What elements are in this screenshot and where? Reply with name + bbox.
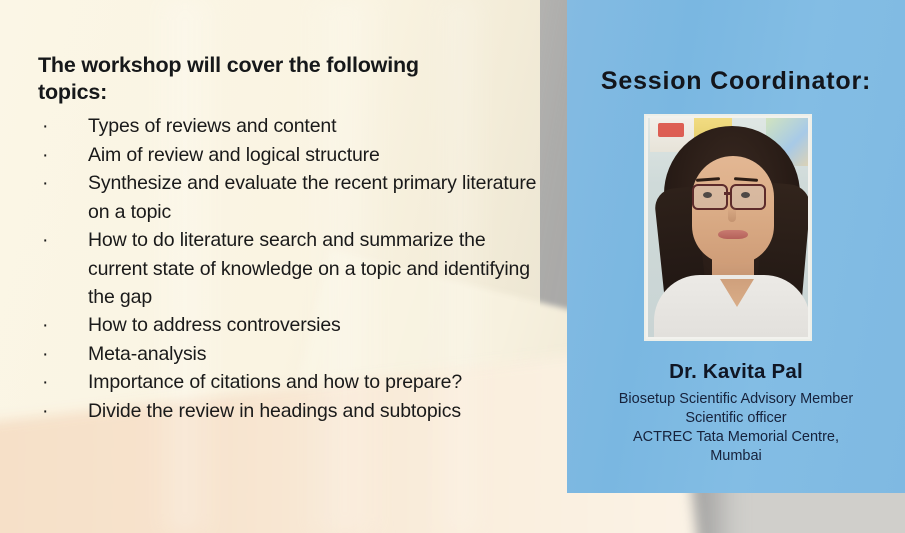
list-item-label: Aim of review and logical structure <box>88 141 538 169</box>
credential-line: Scientific officer <box>575 409 897 428</box>
list-item: · Synthesize and evaluate the recent pri… <box>38 169 538 226</box>
panel-title: Session Coordinator: <box>567 0 905 96</box>
bullet-dot-icon: · <box>38 169 88 197</box>
list-item: · Types of reviews and content <box>38 112 538 140</box>
bullet-dot-icon: · <box>38 226 88 254</box>
bullet-dot-icon: · <box>38 112 88 140</box>
bullet-dot-icon: · <box>38 340 88 368</box>
list-item-label: Meta-analysis <box>88 340 538 368</box>
list-item: · Importance of citations and how to pre… <box>38 368 538 396</box>
list-item-label: How to address controversies <box>88 311 538 339</box>
session-coordinator-panel: Session Coordinator: <box>567 0 905 493</box>
bullet-dot-icon: · <box>38 141 88 169</box>
list-item: · Aim of review and logical structure <box>38 141 538 169</box>
list-item: · How to do literature search and summar… <box>38 226 538 311</box>
bullet-dot-icon: · <box>38 368 88 396</box>
list-item-label: How to do literature search and summariz… <box>88 226 538 311</box>
bullet-dot-icon: · <box>38 311 88 339</box>
list-item-label: Importance of citations and how to prepa… <box>88 368 538 396</box>
coordinator-photo-frame <box>644 114 812 341</box>
presentation-slide: The workshop will cover the following to… <box>0 0 905 533</box>
topics-list: · Types of reviews and content · Aim of … <box>38 112 538 425</box>
photo-eyeglasses-right-lens <box>730 184 766 210</box>
coordinator-credentials: Biosetup Scientific Advisory Member Scie… <box>567 390 905 466</box>
topics-heading: The workshop will cover the following to… <box>38 52 458 106</box>
photo-poster-red-block <box>658 123 684 137</box>
photo-eyeglasses-left-lens <box>692 184 728 210</box>
list-item: · Meta-analysis <box>38 340 538 368</box>
credential-line: Mumbai <box>575 447 897 466</box>
topics-section: The workshop will cover the following to… <box>38 52 538 425</box>
coordinator-portrait-photo <box>648 118 808 337</box>
credential-line: Biosetup Scientific Advisory Member <box>575 390 897 409</box>
photo-shirt <box>654 275 808 337</box>
list-item: · Divide the review in headings and subt… <box>38 397 538 425</box>
list-item-label: Divide the review in headings and subtop… <box>88 397 538 425</box>
photo-lips <box>718 230 748 239</box>
credential-line: ACTREC Tata Memorial Centre, <box>575 428 897 447</box>
photo-nose <box>728 206 736 222</box>
list-item-label: Synthesize and evaluate the recent prima… <box>88 169 538 226</box>
coordinator-name: Dr. Kavita Pal <box>567 360 905 384</box>
list-item-label: Types of reviews and content <box>88 112 538 140</box>
list-item: · How to address controversies <box>38 311 538 339</box>
bullet-dot-icon: · <box>38 397 88 425</box>
photo-shirt-neckline <box>720 279 754 307</box>
photo-eyeglasses-bridge <box>724 192 732 195</box>
